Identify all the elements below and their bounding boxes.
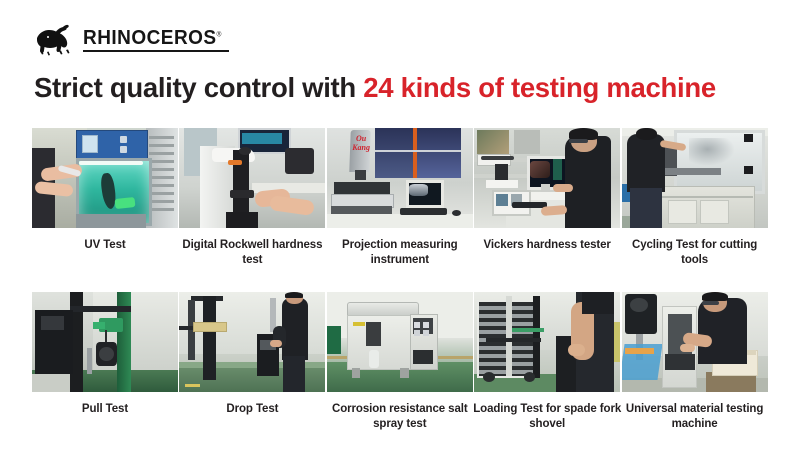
gallery-caption: Loading Test for spade fork shovel <box>472 402 622 431</box>
gallery-caption: Digital Rockwell hardness test <box>177 238 327 268</box>
gallery-row-2: Pull Test Drop Test Corrosion resistance… <box>32 292 768 431</box>
projection-measuring-instrument-photo: Ou Kang <box>327 128 473 228</box>
brand-logo: RHINOCEROS® <box>33 22 229 58</box>
loading-test-rack-photo <box>474 292 620 392</box>
gallery-item[interactable]: Drop Test <box>179 292 325 431</box>
gallery-caption: Universal material testing machine <box>620 402 770 431</box>
gallery-caption: Projection measuring instrument <box>325 238 475 268</box>
gallery-item[interactable]: Loading Test for spade fork shovel <box>474 292 620 431</box>
page-title-accent: 24 kinds of testing machine <box>363 72 716 103</box>
brand-wordmark: RHINOCEROS® <box>83 28 229 52</box>
uv-test-chamber-photo <box>32 128 178 228</box>
gallery-item[interactable]: UV Test <box>32 128 178 268</box>
page-title-lead: Strict quality control with <box>34 72 363 103</box>
brand-underline <box>83 50 229 52</box>
universal-testing-machine-photo <box>622 292 768 392</box>
gallery-caption: Cycling Test for cutting tools <box>620 238 770 268</box>
gallery-caption: Pull Test <box>30 402 180 417</box>
rhinoceros-icon <box>33 23 79 57</box>
gallery-item[interactable]: Pull Test <box>32 292 178 431</box>
drop-test-tower-photo <box>179 292 325 392</box>
gallery-item[interactable]: Cycling Test for cutting tools <box>622 128 768 268</box>
gallery-caption: UV Test <box>30 238 180 268</box>
trademark-symbol: ® <box>217 31 222 38</box>
gallery-item[interactable]: Ou Kang Projection measuring instrument <box>327 128 473 268</box>
gallery-caption: Vickers hardness tester <box>472 238 622 268</box>
page-title: Strict quality control with 24 kinds of … <box>34 72 716 104</box>
gallery-caption: Corrosion resistance salt spray test <box>325 402 475 431</box>
gallery-item[interactable]: Corrosion resistance salt spray test <box>327 292 473 431</box>
photo-brand-text: Ou Kang <box>352 134 371 156</box>
vickers-hardness-tester-photo <box>474 128 620 228</box>
gallery-caption: Drop Test <box>177 402 327 417</box>
gallery-item[interactable]: Vickers hardness tester <box>474 128 620 268</box>
gallery-item[interactable]: Universal material testing machine <box>622 292 768 431</box>
salt-spray-chamber-photo <box>327 292 473 392</box>
rockwell-hardness-tester-photo <box>179 128 325 228</box>
gallery-row-1: UV Test Digital Rockwell hardness test O… <box>32 128 768 268</box>
brand-name: RHINOCEROS <box>83 27 217 49</box>
cycling-test-machine-photo <box>622 128 768 228</box>
pull-test-rig-photo <box>32 292 178 392</box>
gallery-item[interactable]: Digital Rockwell hardness test <box>179 128 325 268</box>
